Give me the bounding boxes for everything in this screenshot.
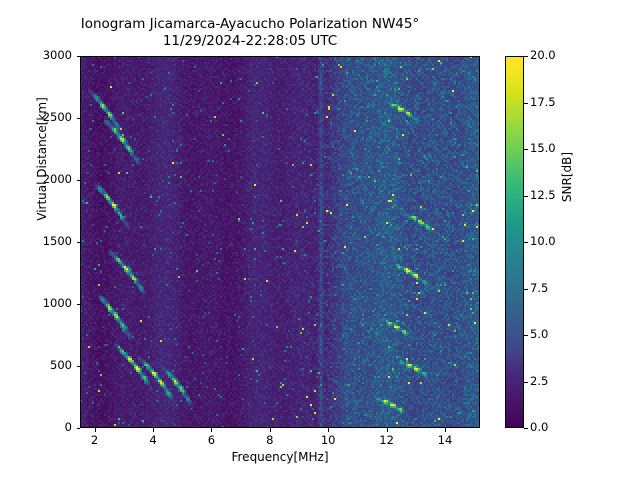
- colorbar-tick-label: 10.0: [530, 234, 556, 248]
- x-tick-label: 10: [308, 433, 348, 447]
- colorbar-tick-label: 0.0: [530, 420, 548, 434]
- colorbar-tick-label: 2.5: [530, 374, 548, 388]
- ionogram-heatmap: [80, 56, 480, 428]
- x-tick-label: 2: [75, 433, 115, 447]
- x-axis-label: Frequency[MHz]: [80, 450, 480, 464]
- y-tick: [77, 242, 81, 243]
- colorbar-tick-label: 7.5: [530, 281, 548, 295]
- x-tick-label: 6: [191, 433, 231, 447]
- page-title: Ionogram Jicamarca-Ayacucho Polarization…: [0, 16, 500, 50]
- colorbar-tick-label: 17.5: [530, 95, 556, 109]
- x-tick: [211, 428, 212, 432]
- colorbar-tick: [524, 242, 528, 243]
- x-tick: [153, 428, 154, 432]
- colorbar-tick: [524, 196, 528, 197]
- colorbar-tick: [524, 335, 528, 336]
- ionogram-figure: Ionogram Jicamarca-Ayacucho Polarization…: [0, 0, 640, 480]
- colorbar-tick-label: 20.0: [530, 48, 556, 62]
- y-tick: [77, 56, 81, 57]
- colorbar: [505, 56, 524, 428]
- y-tick-label: 500: [28, 358, 72, 372]
- x-tick-label: 4: [133, 433, 173, 447]
- colorbar-tick: [524, 56, 528, 57]
- y-tick: [77, 428, 81, 429]
- y-tick-label: 1000: [28, 296, 72, 310]
- colorbar-tick-label: 5.0: [530, 327, 548, 341]
- title-line-1: Ionogram Jicamarca-Ayacucho Polarization…: [0, 16, 500, 33]
- x-tick-label: 14: [425, 433, 465, 447]
- y-tick: [77, 304, 81, 305]
- colorbar-tick: [524, 149, 528, 150]
- colorbar-tick: [524, 103, 528, 104]
- x-tick-label: 12: [367, 433, 407, 447]
- x-tick: [95, 428, 96, 432]
- x-tick: [328, 428, 329, 432]
- title-line-2: 11/29/2024-22:28:05 UTC: [0, 33, 500, 50]
- plot-area: [80, 56, 480, 428]
- x-tick-label: 8: [250, 433, 290, 447]
- y-tick-label: 0: [28, 420, 72, 434]
- colorbar-tick: [524, 428, 528, 429]
- x-tick: [387, 428, 388, 432]
- y-tick: [77, 118, 81, 119]
- colorbar-tick: [524, 289, 528, 290]
- colorbar-label: SNR[dB]: [560, 97, 574, 257]
- colorbar-tick-label: 12.5: [530, 188, 556, 202]
- x-tick: [445, 428, 446, 432]
- x-tick: [270, 428, 271, 432]
- y-tick: [77, 366, 81, 367]
- y-tick: [77, 180, 81, 181]
- colorbar-tick-label: 15.0: [530, 141, 556, 155]
- colorbar-tick: [524, 382, 528, 383]
- y-axis-label: Virtual Distance[km]: [35, 39, 49, 279]
